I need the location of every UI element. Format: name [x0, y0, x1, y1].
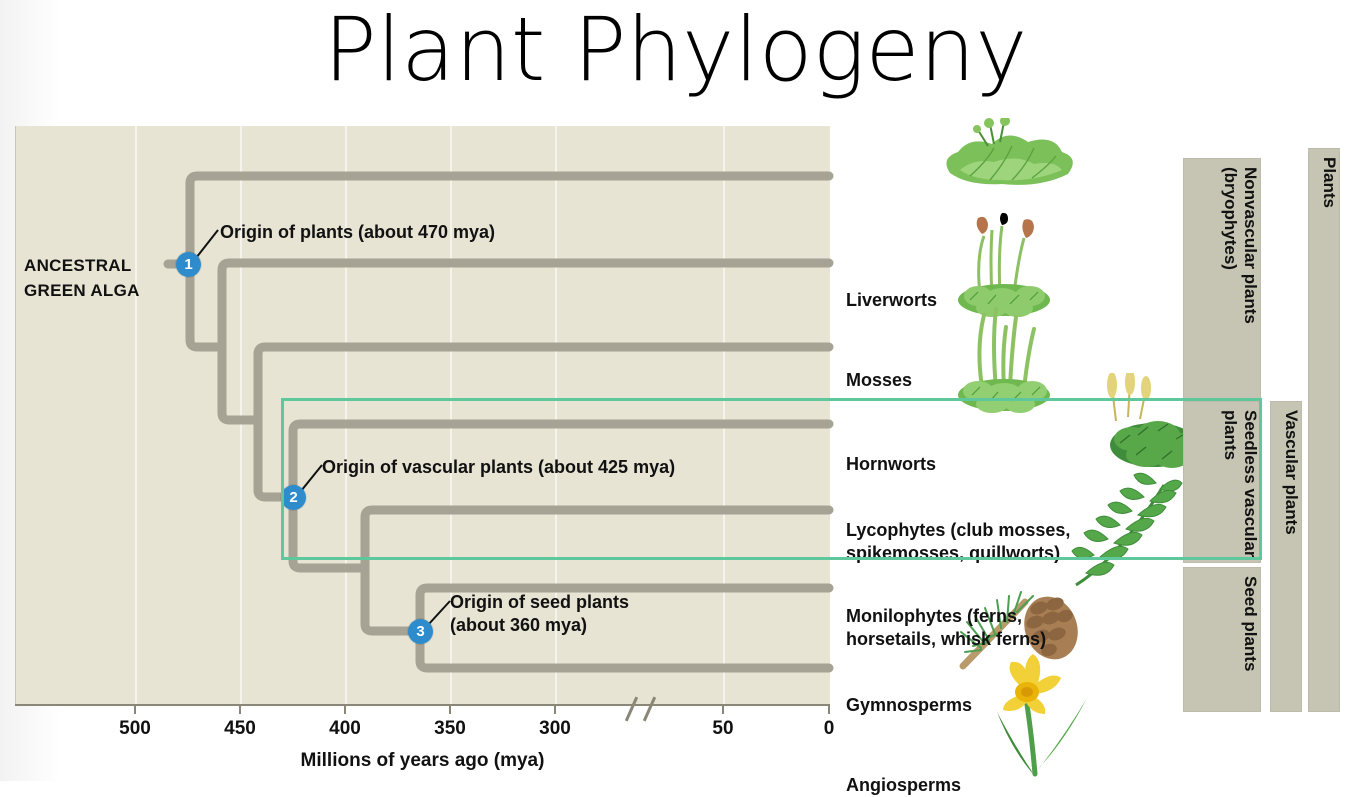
ancestral-green-alga-label: ANCESTRAL GREEN ALGA	[24, 253, 194, 303]
branch-node1-down	[190, 264, 222, 347]
seedless-vascular-highlight-box	[281, 398, 1262, 560]
slide-canvas: Plant Phylogeny 500 450 400 350 300 50 0…	[0, 0, 1351, 781]
bracket-plants: Plants	[1308, 148, 1340, 712]
leader-line-node-3	[428, 601, 450, 625]
axis-tick-label: 350	[420, 718, 480, 740]
bracket-label-vascular-plants: Vascular plants	[1271, 410, 1301, 535]
x-axis-caption: Millions of years ago (mya)	[15, 750, 830, 772]
node-badge-3[interactable]: 3	[408, 619, 433, 644]
bracket-seed-plants: Seed plants	[1183, 567, 1261, 712]
bracket-label-plants: Plants	[1309, 157, 1339, 208]
node-annotation-1: Origin of plants (about 470 mya)	[220, 221, 495, 244]
taxon-label-angiosperms: Angiosperms	[846, 774, 1096, 797]
bracket-vascular-plants: Vascular plants	[1270, 401, 1302, 712]
taxon-label-gymnosperms: Gymnosperms	[846, 694, 1096, 717]
taxon-label-liverworts: Liverworts	[846, 289, 1096, 312]
axis-tick-label: 400	[315, 718, 375, 740]
branch-liverworts	[190, 176, 829, 264]
axis-tick-label: 300	[525, 718, 585, 740]
node-badge-1[interactable]: 1	[176, 252, 201, 277]
bracket-nonvascular-plants: Nonvascular plants (bryophytes)	[1183, 158, 1261, 427]
taxon-label-mosses: Mosses	[846, 369, 1096, 392]
branch-mosses	[222, 263, 829, 347]
axis-tick-label: 0	[799, 718, 859, 740]
node-annotation-3: Origin of seed plants (about 360 mya)	[450, 591, 629, 637]
axis-tick-label: 450	[210, 718, 270, 740]
branch-node2a-down	[222, 347, 258, 420]
phylogeny-figure: 500 450 400 350 300 50 0 Millions of yea…	[0, 118, 1351, 781]
liverwort-illustration	[930, 118, 1090, 198]
bracket-label-nonvascular: Nonvascular plants (bryophytes)	[1184, 167, 1260, 324]
leader-line-node-1	[196, 230, 218, 258]
bracket-label-seed-plants: Seed plants	[1184, 576, 1260, 671]
axis-tick-label: 500	[105, 718, 165, 740]
taxon-label-monilophytes: Monilophytes (ferns, horsetails, whisk f…	[846, 605, 1096, 651]
page-title: Plant Phylogeny	[0, 0, 1351, 106]
axis-tick-label: 50	[693, 718, 753, 740]
